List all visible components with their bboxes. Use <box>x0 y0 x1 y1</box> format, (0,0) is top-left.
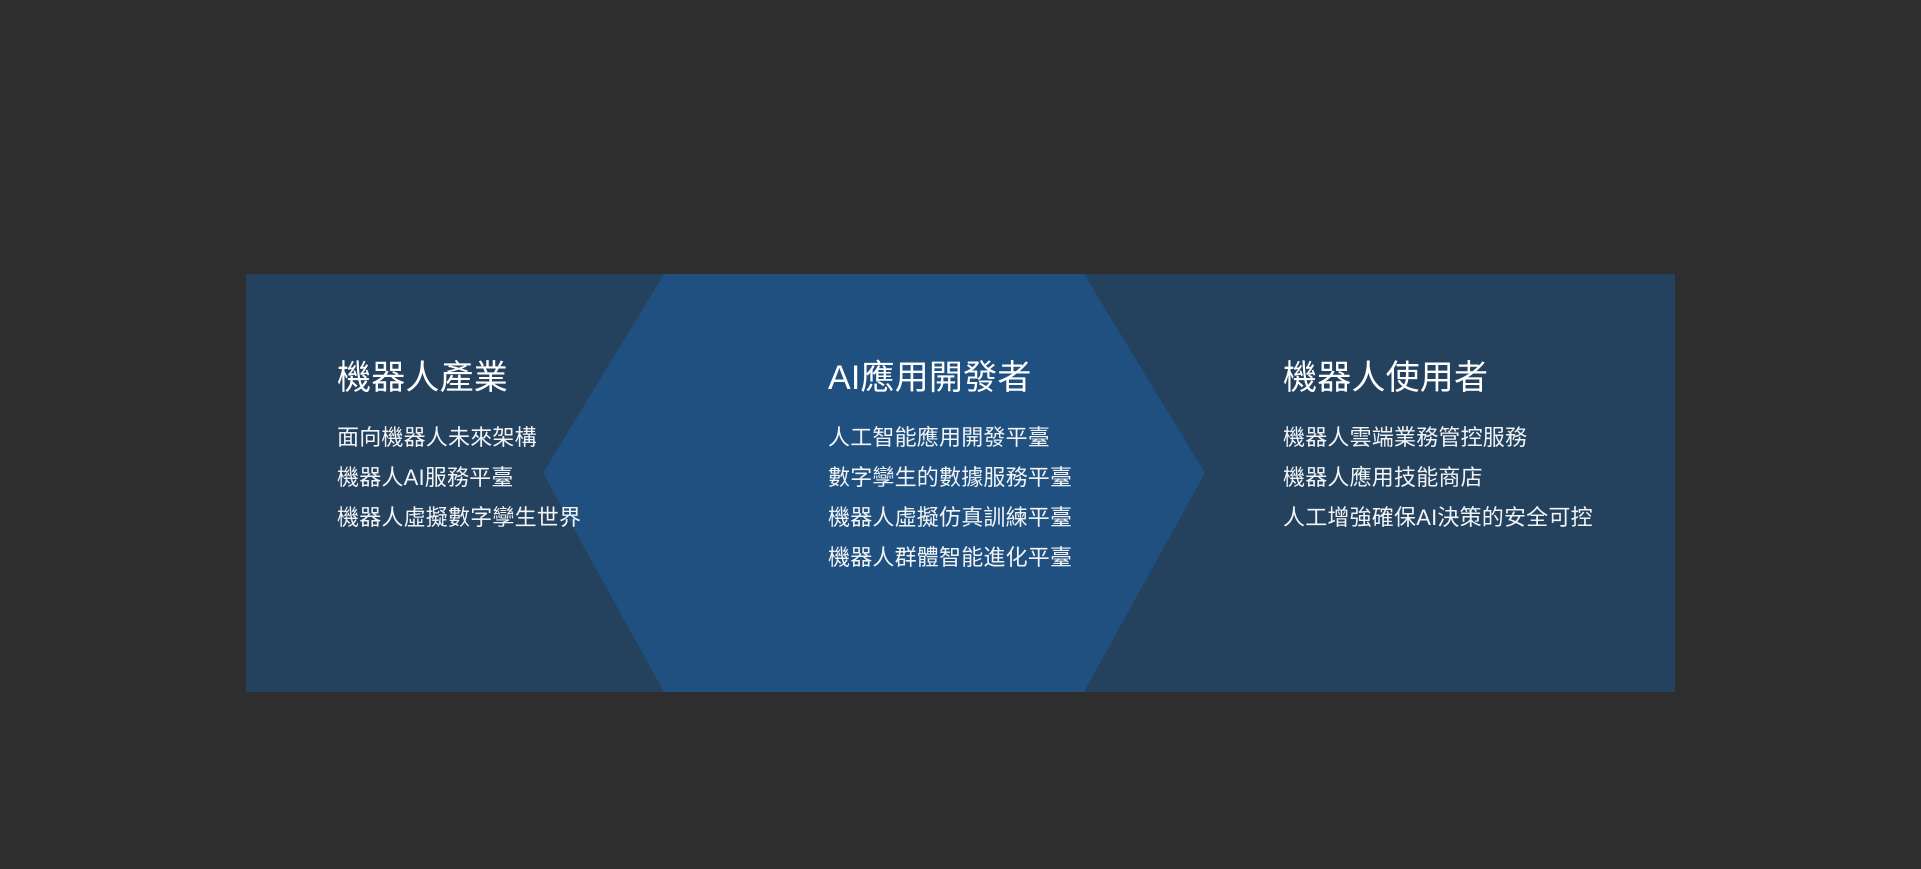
column-2-title: AI應用開發者 <box>828 359 1032 398</box>
column-3-title: 機器人使用者 <box>1283 359 1488 398</box>
column-2-item-list: 人工智能應用開發平臺 數字孿生的數據服務平臺 機器人虛擬仿真訓練平臺 機器人群體… <box>828 422 1072 574</box>
list-item: 機器人應用技能商店 <box>1283 462 1593 494</box>
list-item: 機器人雲端業務管控服務 <box>1283 422 1593 454</box>
list-item: 數字孿生的數據服務平臺 <box>828 462 1072 494</box>
ecosystem-banner: 機器人產業 面向機器人未來架構 機器人AI服務平臺 機器人虛擬數字孿生世界 AI… <box>246 274 1675 692</box>
list-item: 機器人虛擬數字孿生世界 <box>337 502 581 534</box>
list-item: 機器人虛擬仿真訓練平臺 <box>828 502 1072 534</box>
list-item: 人工智能應用開發平臺 <box>828 422 1072 454</box>
column-robot-industry: 機器人產業 面向機器人未來架構 機器人AI服務平臺 機器人虛擬數字孿生世界 <box>337 274 667 692</box>
column-1-item-list: 面向機器人未來架構 機器人AI服務平臺 機器人虛擬數字孿生世界 <box>337 422 581 534</box>
column-ai-app-developer: AI應用開發者 人工智能應用開發平臺 數字孿生的數據服務平臺 機器人虛擬仿真訓練… <box>828 274 1188 692</box>
list-item: 機器人群體智能進化平臺 <box>828 542 1072 574</box>
list-item: 人工增強確保AI決策的安全可控 <box>1283 502 1593 534</box>
column-1-title: 機器人產業 <box>337 359 508 398</box>
column-robot-user: 機器人使用者 機器人雲端業務管控服務 機器人應用技能商店 人工增強確保AI決策的… <box>1283 274 1663 692</box>
list-item: 面向機器人未來架構 <box>337 422 581 454</box>
slide-canvas: 機器人產業 面向機器人未來架構 機器人AI服務平臺 機器人虛擬數字孿生世界 AI… <box>0 0 1921 869</box>
list-item: 機器人AI服務平臺 <box>337 462 581 494</box>
column-3-item-list: 機器人雲端業務管控服務 機器人應用技能商店 人工增強確保AI決策的安全可控 <box>1283 422 1593 534</box>
